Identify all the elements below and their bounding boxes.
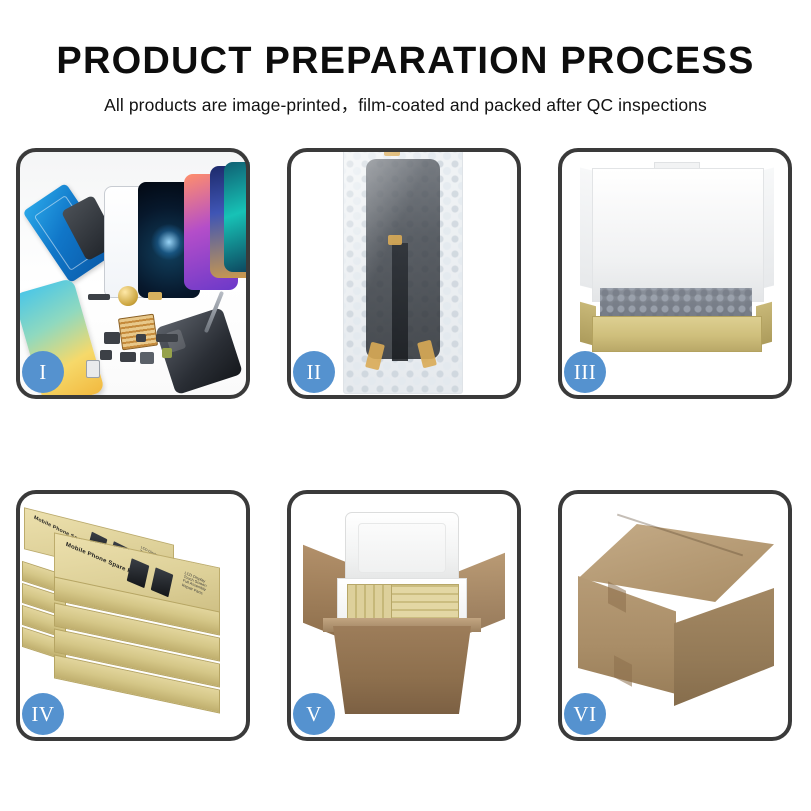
process-step-grid: I II III [16, 148, 795, 742]
spare-part [88, 294, 110, 300]
step-card-6[interactable]: VI [558, 490, 792, 741]
carton-body [327, 626, 477, 714]
page-subtitle: All products are image-printed，film-coat… [0, 92, 811, 117]
foam-lid-inner [358, 523, 446, 573]
step-card-2[interactable]: II [287, 148, 521, 399]
plastic-gloss [344, 148, 462, 393]
step-badge-3: III [564, 351, 606, 393]
ic-chip [118, 314, 158, 351]
spare-part [120, 352, 136, 362]
step-card-3[interactable]: III [558, 148, 792, 399]
step-badge-4: IV [22, 693, 64, 735]
step-badge-1: I [22, 351, 64, 393]
speaker-module [118, 286, 138, 306]
box-screen-photo [151, 567, 174, 597]
phone-teal-display [224, 162, 250, 272]
spare-part [162, 348, 172, 358]
box-front-gold [592, 316, 762, 352]
foam-box-lid [345, 512, 459, 584]
step-badge-2: II [293, 351, 335, 393]
box-spec-lines: LCD DisplayTouch ScreenFull AssemblyRepa… [182, 571, 208, 596]
spare-part [104, 332, 120, 344]
spare-part [140, 352, 154, 364]
page-title: PRODUCT PREPARATION PROCESS [0, 42, 811, 82]
spare-part [136, 334, 146, 342]
step-badge-6: VI [564, 693, 606, 735]
page-header: PRODUCT PREPARATION PROCESS All products… [0, 0, 811, 117]
bubble-wrap-bag [343, 148, 463, 394]
spare-part [86, 360, 100, 378]
step-card-5[interactable]: V [287, 490, 521, 741]
step-card-4[interactable]: Mobile Phone Spare Parts LCD DisplayTouc… [16, 490, 250, 741]
box-lid-back [592, 168, 764, 302]
step-badge-5: V [293, 693, 335, 735]
spare-part [156, 334, 178, 342]
carton-right-face [674, 588, 774, 706]
box-screen-photo [127, 558, 150, 588]
step-card-1[interactable]: I [16, 148, 250, 399]
spare-part [148, 292, 162, 300]
spare-part [100, 350, 112, 360]
